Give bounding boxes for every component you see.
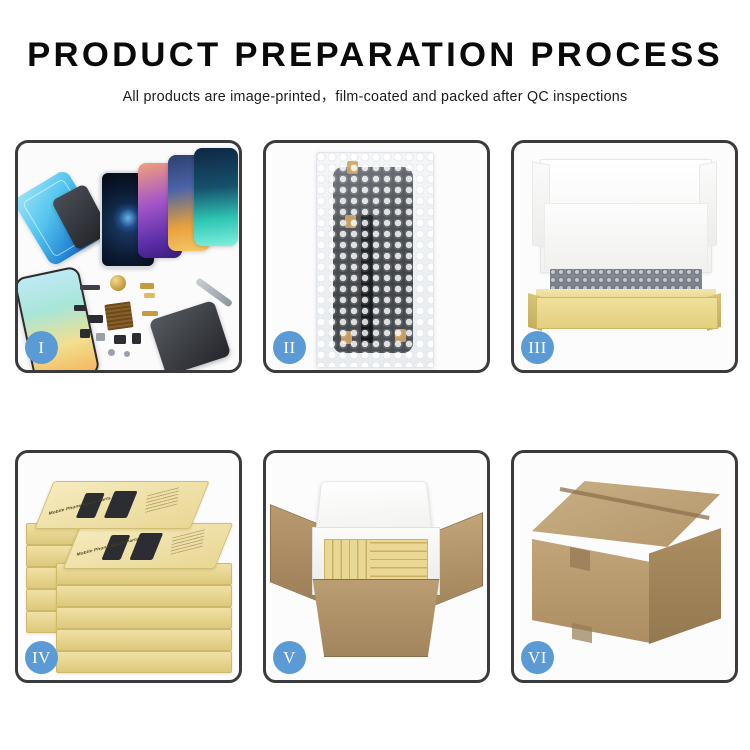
stacked-box-edge bbox=[56, 607, 232, 629]
flex-cable-part bbox=[142, 311, 158, 316]
stacked-box-edge bbox=[56, 629, 232, 651]
process-step-panel-6[interactable]: VI bbox=[511, 450, 738, 683]
yellow-boxes-inside bbox=[324, 539, 428, 585]
spare-chip bbox=[80, 329, 90, 338]
step-badge-3: III bbox=[521, 331, 554, 364]
spare-screw bbox=[108, 349, 115, 356]
step-badge-4: IV bbox=[25, 641, 58, 674]
logic-board-part bbox=[104, 301, 133, 330]
step-badge-6: VI bbox=[521, 641, 554, 674]
box-spec-lines bbox=[171, 529, 205, 555]
spare-chip bbox=[74, 305, 86, 311]
page-title: PRODUCT PREPARATION PROCESS bbox=[0, 38, 750, 72]
stacked-box-edge bbox=[56, 651, 232, 673]
phone-midframe bbox=[149, 300, 232, 370]
phone-teal-gradient bbox=[194, 148, 238, 246]
spare-chip bbox=[114, 335, 126, 344]
page-subtitle: All products are image-printed，film-coat… bbox=[0, 85, 750, 106]
adhesive-tab bbox=[341, 331, 352, 344]
carton-tape-lower bbox=[572, 623, 592, 643]
stacked-box-edge bbox=[56, 585, 232, 607]
spare-screw bbox=[124, 351, 130, 357]
spare-chip bbox=[96, 333, 105, 341]
adhesive-tab bbox=[345, 215, 356, 228]
step-badge-2: II bbox=[273, 331, 306, 364]
vibration-motor-part bbox=[110, 275, 126, 291]
process-step-panel-4[interactable]: Mobile Phone Spare Parts Mobile Phone Sp… bbox=[15, 450, 242, 683]
spare-chip bbox=[144, 293, 155, 298]
spare-chip bbox=[88, 315, 103, 323]
adhesive-tab bbox=[347, 161, 358, 174]
kraft-box-front bbox=[536, 297, 718, 329]
process-step-panel-5[interactable]: V bbox=[263, 450, 490, 683]
spare-chip bbox=[132, 333, 141, 344]
spare-chip bbox=[80, 285, 100, 290]
spare-chip bbox=[140, 283, 154, 289]
bubble-wrap-bag bbox=[316, 152, 434, 368]
carton-tape-upper bbox=[570, 547, 590, 571]
process-step-grid: I II bbox=[15, 140, 735, 683]
outer-carton-body bbox=[304, 579, 448, 657]
product-preparation-process-page: PRODUCT PREPARATION PROCESS All products… bbox=[0, 0, 750, 750]
page-header: PRODUCT PREPARATION PROCESS All products… bbox=[0, 0, 750, 106]
screen-flex-cable bbox=[361, 215, 373, 343]
adhesive-tab bbox=[395, 329, 406, 342]
box-top-face: Mobile Phone Spare Parts bbox=[63, 523, 234, 569]
process-step-panel-2[interactable]: II bbox=[263, 140, 490, 373]
process-step-panel-3[interactable]: III bbox=[511, 140, 738, 373]
box-stack: Mobile Phone Spare Parts Mobile Phone Sp… bbox=[26, 471, 230, 667]
process-step-panel-1[interactable]: I bbox=[15, 140, 242, 373]
box-spec-lines bbox=[145, 487, 179, 513]
step-badge-5: V bbox=[273, 641, 306, 674]
wrapped-screen-assembly bbox=[333, 167, 413, 353]
foam-sheet bbox=[544, 203, 708, 271]
box-top-face: Mobile Phone Spare Parts bbox=[34, 481, 209, 529]
step-badge-1: I bbox=[25, 331, 58, 364]
